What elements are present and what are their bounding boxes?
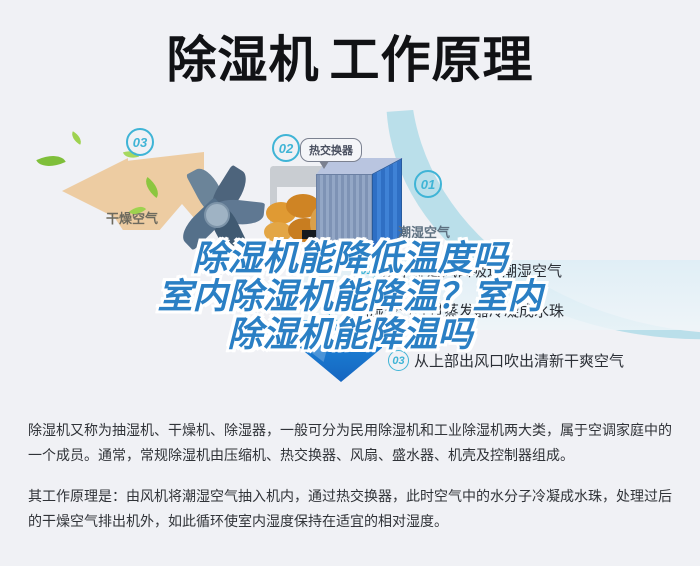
- article-paragraph-2: 其工作原理是：由风机将潮湿空气抽入机内，通过热交换器，此时空气中的水分子冷凝成水…: [0, 468, 700, 534]
- page-title-text: 除湿机工作原理: [167, 35, 534, 85]
- step-caption-02: 02 潮湿空气经过蒸发器冷凝成水珠: [328, 300, 564, 321]
- step-text: 从下部进风口吸进潮湿空气: [382, 260, 562, 281]
- dehumidifier-diagram: 干燥空气: [0, 110, 700, 400]
- article-body: 除湿机又称为抽湿机、干燥机、除湿器，一般可分为民用除湿机和工业除湿机两大类，属于…: [0, 404, 700, 566]
- step-text: 潮湿空气经过蒸发器冷凝成水珠: [354, 300, 564, 321]
- page-root: 除湿机工作原理 干燥空气: [0, 0, 700, 566]
- page-title-part1: 除湿机: [167, 32, 320, 88]
- step-text: 从上部出风口吹出清新干爽空气: [414, 350, 624, 371]
- step-caption-list: 01 从下部进风口吸进潮湿空气 02 潮湿空气经过蒸发器冷凝成水珠 03 从上部…: [0, 110, 700, 400]
- page-title: 除湿机工作原理: [0, 22, 700, 98]
- page-title-part2: 工作原理: [330, 32, 534, 88]
- step-number-icon: 01: [356, 260, 377, 281]
- article-paragraph-1: 除湿机又称为抽湿机、干燥机、除湿器，一般可分为民用除湿机和工业除湿机两大类，属于…: [0, 404, 700, 468]
- step-number-icon: 03: [388, 350, 409, 371]
- step-caption-03: 03 从上部出风口吹出清新干爽空气: [388, 350, 624, 371]
- step-caption-01: 01 从下部进风口吸进潮湿空气: [356, 260, 562, 281]
- step-number-icon: 02: [328, 300, 349, 321]
